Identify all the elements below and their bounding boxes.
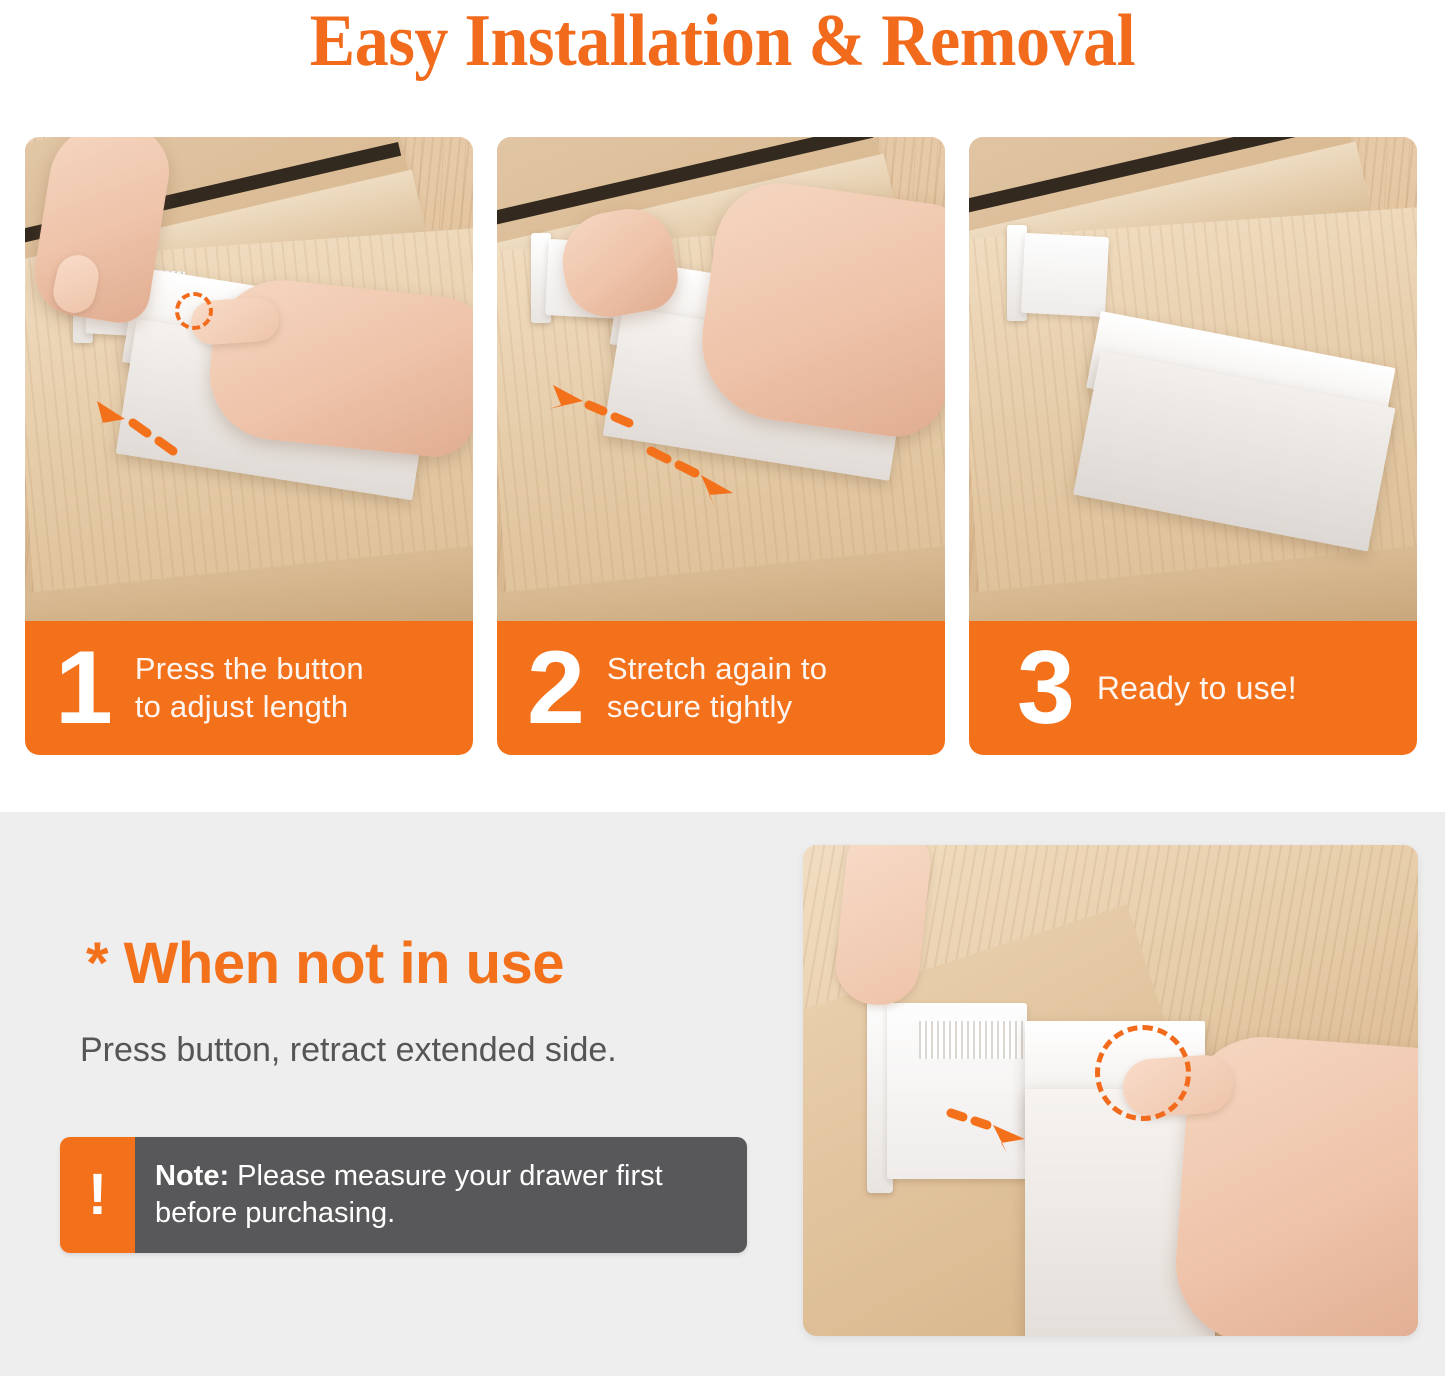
left-arrow-icon bbox=[537, 375, 647, 435]
note-body: Note: Please measure your drawer first b… bbox=[135, 1137, 747, 1253]
divider-teeth bbox=[919, 1021, 1023, 1059]
right-down-arrow-icon bbox=[645, 443, 755, 513]
note-callout: ! Note: Please measure your drawer first… bbox=[60, 1137, 747, 1253]
product-infographic: Easy Installation & Removal bbox=[0, 0, 1445, 1376]
step-2-text-line2: secure tightly bbox=[607, 688, 827, 726]
step-3-text-line1: Ready to use! bbox=[1097, 669, 1297, 707]
step-3-caption: 3 Ready to use! bbox=[969, 621, 1417, 755]
step-2-caption: 2 Stretch again to secure tightly bbox=[497, 621, 945, 755]
step-2-number: 2 bbox=[527, 638, 585, 738]
exclamation-icon: ! bbox=[60, 1137, 135, 1253]
when-not-in-use-subtitle: Press button, retract extended side. bbox=[80, 1031, 617, 1070]
step-2-photo bbox=[497, 137, 945, 623]
step-1-text-line1: Press the button bbox=[135, 650, 364, 688]
right-arrow-icon bbox=[945, 1103, 1035, 1149]
step-2-text-line1: Stretch again to bbox=[607, 650, 827, 688]
step-2-text: Stretch again to secure tightly bbox=[607, 650, 827, 726]
note-label: Note: bbox=[155, 1160, 229, 1192]
step-1-caption: 1 Press the button to adjust length bbox=[25, 621, 473, 755]
note-text: Note: Please measure your drawer first b… bbox=[155, 1158, 733, 1232]
page-title: Easy Installation & Removal bbox=[58, 2, 1387, 80]
step-3-text: Ready to use! bbox=[1097, 669, 1297, 707]
step-1-text: Press the button to adjust length bbox=[135, 650, 364, 726]
step-card-1: 1 Press the button to adjust length bbox=[25, 137, 473, 755]
when-not-in-use-title: * When not in use bbox=[86, 930, 564, 997]
left-arrow-icon bbox=[77, 389, 187, 459]
when-not-in-use-section: * When not in use Press button, retract … bbox=[0, 812, 1445, 1376]
step-card-2: 2 Stretch again to secure tightly bbox=[497, 137, 945, 755]
step-1-photo bbox=[25, 137, 473, 623]
step-card-3: 3 Ready to use! bbox=[969, 137, 1417, 755]
divider-inner-rail bbox=[1021, 233, 1109, 317]
step-3-photo bbox=[969, 137, 1417, 623]
dashed-circle-highlight bbox=[1095, 1025, 1191, 1121]
dashed-circle-highlight bbox=[175, 292, 213, 330]
retract-photo bbox=[803, 845, 1418, 1336]
step-1-text-line2: to adjust length bbox=[135, 688, 364, 726]
step-1-number: 1 bbox=[55, 638, 113, 738]
step-3-number: 3 bbox=[1017, 638, 1075, 738]
installation-steps: 1 Press the button to adjust length bbox=[0, 137, 1445, 757]
note-message: Please measure your drawer first before … bbox=[155, 1160, 663, 1229]
